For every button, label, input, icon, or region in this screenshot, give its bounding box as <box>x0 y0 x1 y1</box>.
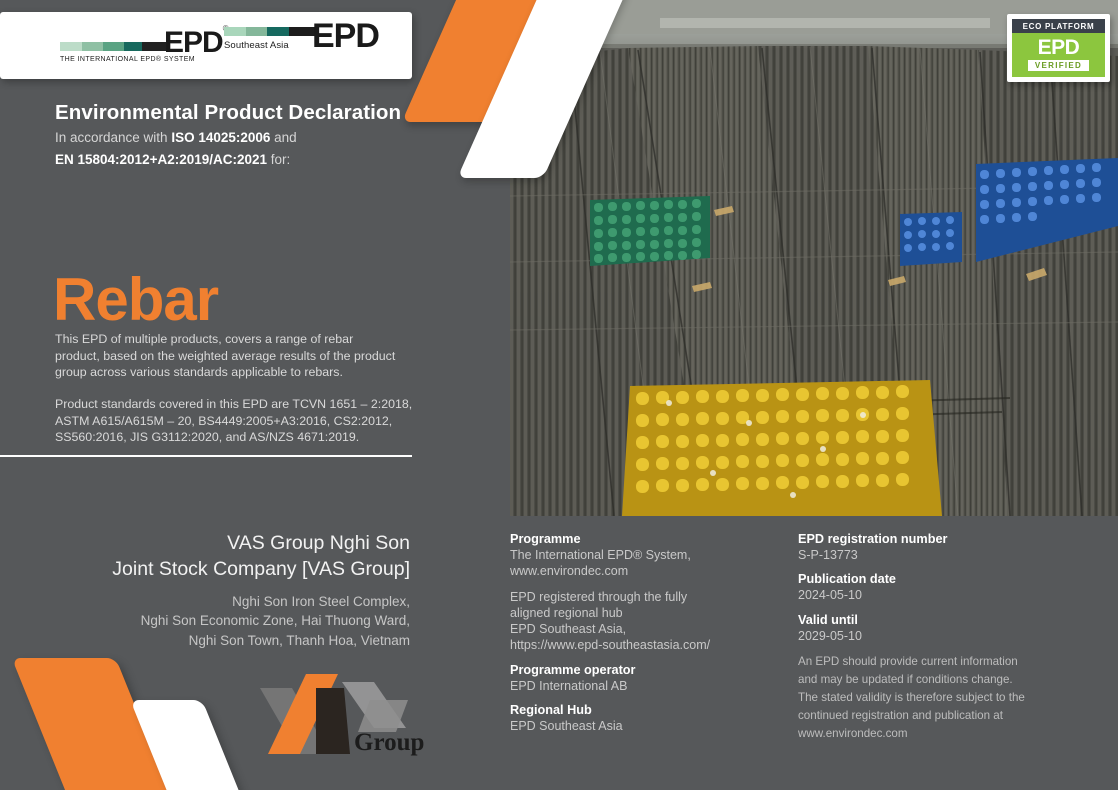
regional-hub-block: Regional Hub EPD Southeast Asia <box>510 703 795 734</box>
registration-number-value: S-P-13773 <box>798 547 1098 563</box>
company-address-line-1: Nghi Son Iron Steel Complex, <box>0 592 410 612</box>
valid-until-value: 2029-05-10 <box>798 628 1098 644</box>
company-name-line-2: Joint Stock Company [VAS Group] <box>0 556 410 582</box>
standards-line-1: In accordance with ISO 14025:2006 and <box>55 130 297 145</box>
validity-note-line-2: and may be updated if conditions change. <box>798 671 1098 689</box>
company-name: VAS Group Nghi Son Joint Stock Company [… <box>0 530 410 583</box>
validity-note-line-5: www.environdec.com <box>798 725 1098 743</box>
standards-line-2-suffix: for: <box>267 152 290 167</box>
epd-logo-card: EPD ® THE INTERNATIONAL EPD® SYSTEM Sout… <box>0 12 412 79</box>
regional-hub-note: EPD registered through the fully aligned… <box>510 589 795 654</box>
standards-line-1-prefix: In accordance with <box>55 130 171 145</box>
regional-hub-note-line-4: https://www.epd-southeastasia.com/ <box>510 637 795 653</box>
programme-label: Programme <box>510 532 795 546</box>
company-address-line-2: Nghi Son Economic Zone, Hai Thuong Ward, <box>0 611 410 631</box>
iso-standard-ref: ISO 14025:2006 <box>171 130 270 145</box>
programme-value-line-1: The International EPD® System, <box>510 547 795 563</box>
validity-note-line-3: The stated validity is therefore subject… <box>798 689 1098 707</box>
sea-epd-wordmark: EPD <box>312 23 379 50</box>
programme-value-line-2: www.environdec.com <box>510 563 795 579</box>
programme-operator-block: Programme operator EPD International AB <box>510 663 795 694</box>
registration-number-label: EPD registration number <box>798 532 1098 546</box>
programme-operator-value: EPD International AB <box>510 678 795 694</box>
southeast-asia-epd-logo: Southeast Asia EPD <box>224 23 379 51</box>
eco-platform-body: EPD VERIFIED <box>1012 33 1105 77</box>
page-title: Environmental Product Declaration <box>55 101 401 125</box>
programme-operator-label: Programme operator <box>510 663 795 677</box>
eco-verified-label: VERIFIED <box>1028 60 1089 71</box>
product-standards-covered: Product standards covered in this EPD ar… <box>55 396 415 446</box>
vas-group-logo: Group <box>258 666 428 758</box>
valid-until-label: Valid until <box>798 613 1098 627</box>
regional-hub-label: Regional Hub <box>510 703 795 717</box>
standards-line-2: EN 15804:2012+A2:2019/AC:2021 for: <box>55 152 290 167</box>
vas-group-label: Group <box>354 729 424 756</box>
product-description: This EPD of multiple products, covers a … <box>55 331 400 381</box>
eco-platform-label: ECO PLATFORM <box>1012 19 1105 33</box>
registration-number-block: EPD registration number S-P-13773 <box>798 532 1098 563</box>
programme-column: Programme The International EPD® System,… <box>510 532 795 743</box>
valid-until-block: Valid until 2029-05-10 <box>798 613 1098 644</box>
regional-hub-note-line-3: EPD Southeast Asia, <box>510 621 795 637</box>
sea-gradient-bars-icon <box>224 27 315 36</box>
epd-gradient-bars-icon <box>60 42 166 51</box>
regional-hub-note-line-1: EPD registered through the fully <box>510 589 795 605</box>
validity-note-line-4: continued registration and publication a… <box>798 707 1098 725</box>
company-name-line-1: VAS Group Nghi Son <box>0 530 410 556</box>
product-name: Rebar <box>53 270 218 330</box>
company-address-line-3: Nghi Son Town, Thanh Hoa, Vietnam <box>0 631 410 651</box>
regional-hub-value: EPD Southeast Asia <box>510 718 795 734</box>
registration-column: EPD registration number S-P-13773 Public… <box>798 532 1098 743</box>
programme-block: Programme The International EPD® System,… <box>510 532 795 580</box>
en-standard-ref: EN 15804:2012+A2:2019/AC:2021 <box>55 152 267 167</box>
company-block: VAS Group Nghi Son Joint Stock Company [… <box>0 530 412 650</box>
company-address: Nghi Son Iron Steel Complex, Nghi Son Ec… <box>0 592 410 651</box>
international-epd-wordmark: EPD <box>164 31 223 55</box>
validity-note-line-1: An EPD should provide current informatio… <box>798 653 1098 671</box>
international-epd-logo: EPD ® THE INTERNATIONAL EPD® SYSTEM <box>60 24 229 63</box>
eco-epd-wordmark: EPD <box>1038 38 1080 58</box>
epd-cover-page: EPD ® THE INTERNATIONAL EPD® SYSTEM Sout… <box>0 0 1118 790</box>
standards-line-1-suffix: and <box>270 130 296 145</box>
publication-date-value: 2024-05-10 <box>798 587 1098 603</box>
publication-date-block: Publication date 2024-05-10 <box>798 572 1098 603</box>
publication-date-label: Publication date <box>798 572 1098 586</box>
sea-region-label: Southeast Asia <box>224 40 315 51</box>
section-divider <box>0 455 412 457</box>
eco-platform-verified-badge: ECO PLATFORM EPD VERIFIED <box>1007 14 1110 82</box>
regional-hub-note-line-2: aligned regional hub <box>510 605 795 621</box>
validity-note: An EPD should provide current informatio… <box>798 653 1098 743</box>
